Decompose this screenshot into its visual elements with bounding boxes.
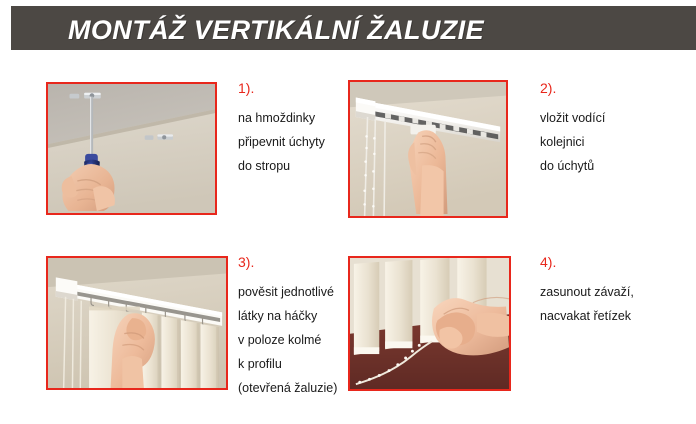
step-1-line-3: do stropu: [238, 154, 325, 178]
step-4-caption: 4). zasunout závaží, nacvakat řetízek: [540, 254, 634, 328]
step-1-number: 1).: [238, 80, 325, 96]
steps-grid: 1). na hmoždinky připevnit úchyty do str…: [0, 50, 696, 424]
step-2-line-3: do úchytů: [540, 154, 605, 178]
step-2-line-2: kolejnici: [540, 130, 605, 154]
step-2-number: 2).: [540, 80, 605, 96]
step-4-number: 4).: [540, 254, 634, 270]
hang-slats-illustration: [48, 258, 226, 388]
step-3-line-2: látky na háčky: [238, 304, 337, 328]
header-bar: MONTÁŽ VERTIKÁLNÍ ŽALUZIE: [11, 6, 696, 50]
step-1-line-2: připevnit úchyty: [238, 130, 325, 154]
step-3-line-5: (otevřená žaluzie): [238, 376, 337, 400]
page-title: MONTÁŽ VERTIKÁLNÍ ŽALUZIE: [68, 15, 484, 46]
step-2-photo: [348, 80, 508, 218]
step-4-line-2: nacvakat řetízek: [540, 304, 634, 328]
step-2-caption: 2). vložit vodící kolejnici do úchytů: [540, 80, 605, 178]
step-3-number: 3).: [238, 254, 337, 270]
step-3-line-3: v poloze kolmé: [238, 328, 337, 352]
step-1-caption: 1). na hmoždinky připevnit úchyty do str…: [238, 80, 325, 178]
step-3-line-1: pověsit jednotlivé: [238, 280, 337, 304]
step-4-line-1: zasunout závaží,: [540, 280, 634, 304]
step-1-photo: [46, 82, 217, 215]
step-3-caption: 3). pověsit jednotlivé látky na háčky v …: [238, 254, 337, 400]
step-1-line-1: na hmoždinky: [238, 106, 325, 130]
screwdriver-ceiling-illustration: [48, 84, 215, 213]
bottom-chain-illustration: [350, 258, 509, 389]
step-2-line-1: vložit vodící: [540, 106, 605, 130]
insert-rail-illustration: [350, 82, 506, 216]
step-3-photo: [46, 256, 228, 390]
step-3-line-4: k profilu: [238, 352, 337, 376]
step-4-photo: [348, 256, 511, 391]
